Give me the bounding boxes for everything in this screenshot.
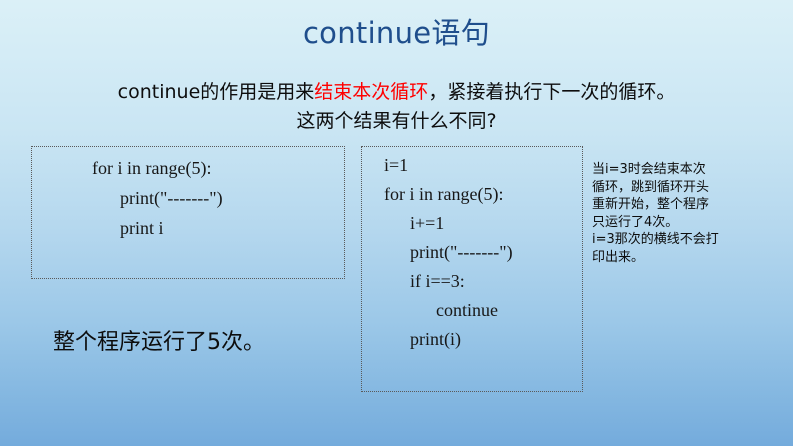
annotation-line: 当i=3时会结束本次 — [592, 161, 788, 179]
subheading-line1-after: ，紧接着执行下一次的循环。 — [428, 81, 675, 103]
slide-canvas: continue语句 continue的作用是用来结束本次循环，紧接着执行下一次… — [0, 0, 793, 446]
subheading-block: continue的作用是用来结束本次循环，紧接着执行下一次的循环。 这两个结果有… — [0, 78, 793, 136]
code-line: print("-------") — [362, 238, 582, 267]
code-line: if i==3: — [362, 267, 582, 296]
subheading-highlight: 结束本次循环 — [314, 81, 428, 103]
annotation-line: i=3那次的横线不会打 — [592, 231, 788, 249]
code-line: print i — [32, 213, 344, 243]
subheading-line2: 这两个结果有什么不同? — [0, 107, 793, 136]
page-title: continue语句 — [0, 16, 793, 50]
subheading-line1-before: continue的作用是用来 — [118, 81, 315, 103]
code-line: for i in range(5): — [362, 180, 582, 209]
annotation-line: 重新开始，整个程序 — [592, 196, 788, 214]
annotation-line: 印出来。 — [592, 249, 788, 267]
annotation-line: 循环，跳到循环开头 — [592, 179, 788, 197]
code-line: print("-------") — [32, 183, 344, 213]
code-line: i+=1 — [362, 209, 582, 238]
annotation-line: 只运行了4次。 — [592, 214, 788, 232]
annotation-text: 当i=3时会结束本次 循环，跳到循环开头 重新开始，整个程序 只运行了4次。 i… — [592, 161, 788, 266]
code-line: i=1 — [362, 151, 582, 180]
bottom-note: 整个程序运行了5次。 — [53, 328, 265, 358]
code-line: for i in range(5): — [32, 153, 344, 183]
code-line: print(i) — [362, 325, 582, 354]
code-lines-right: i=1 for i in range(5): i+=1 print("-----… — [362, 147, 582, 354]
code-box-right: i=1 for i in range(5): i+=1 print("-----… — [361, 146, 583, 392]
code-line: continue — [362, 296, 582, 325]
code-lines-left: for i in range(5): print("-------") prin… — [32, 147, 344, 243]
code-box-left: for i in range(5): print("-------") prin… — [31, 146, 345, 279]
